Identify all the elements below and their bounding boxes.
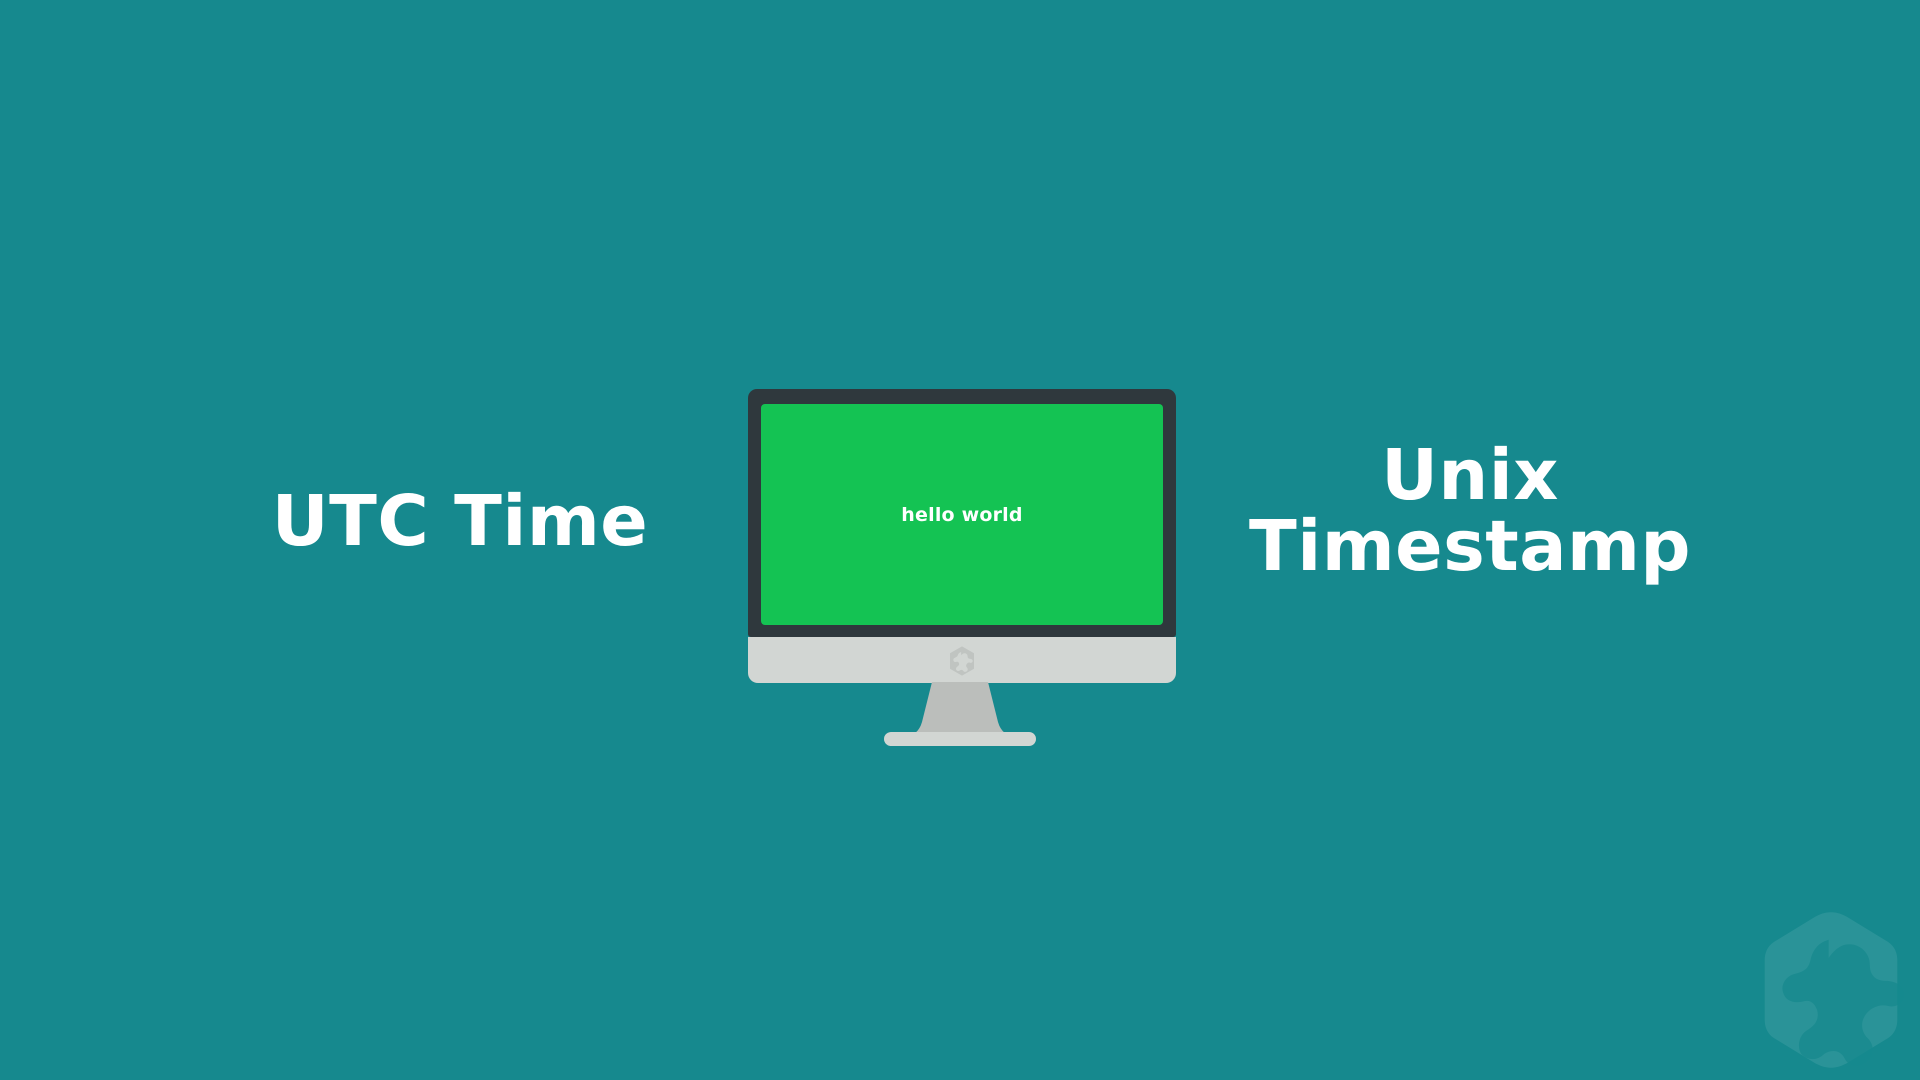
monitor-screen: hello world [761,404,1163,625]
heading-utc-time: UTC Time [130,486,790,557]
monitor-chin [748,637,1176,683]
desktop-monitor-illustration: hello world [748,389,1176,685]
screen-output-text: hello world [901,504,1022,526]
exercism-hex-logo-watermark [1756,910,1906,1070]
slide-canvas: UTC Time hello world Unix Timestamp [0,0,1920,1080]
heading-unix-timestamp: Unix Timestamp [1150,440,1790,583]
monitor-stand-foot [884,732,1036,746]
monitor-stand [880,682,1040,748]
exercism-hex-logo-icon [948,646,976,676]
